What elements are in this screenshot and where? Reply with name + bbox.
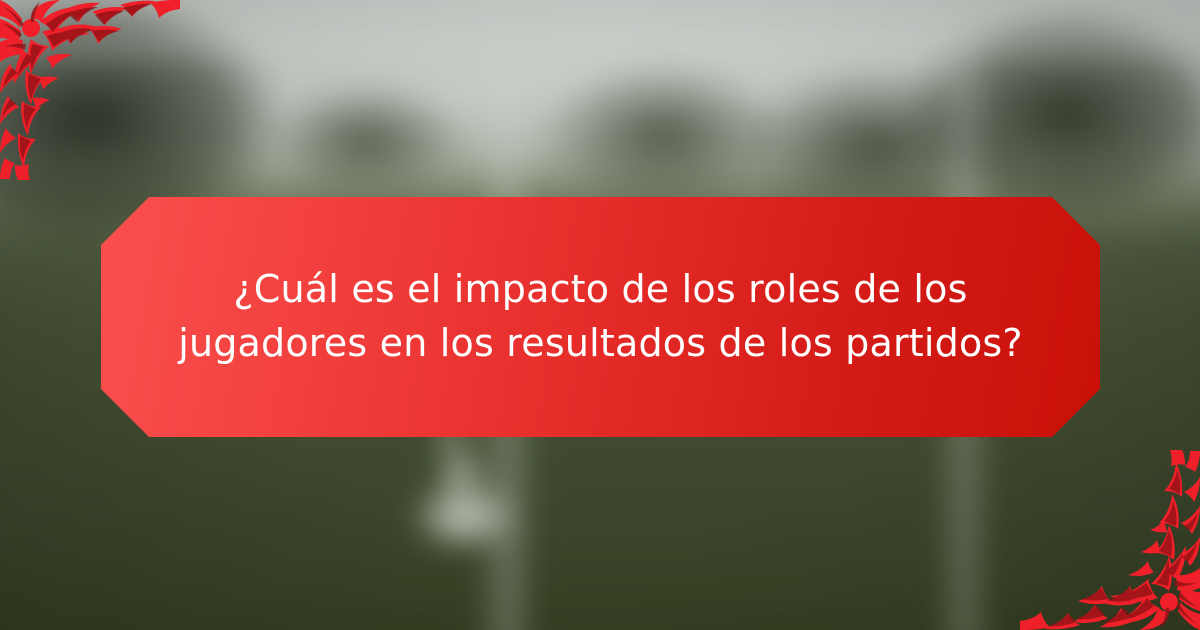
title-banner: ¿Cuál es el impacto de los roles de los …	[101, 197, 1100, 437]
share-card-canvas: ¿Cuál es el impacto de los roles de los …	[0, 0, 1200, 630]
banner-title-text: ¿Cuál es el impacto de los roles de los …	[101, 263, 1100, 371]
